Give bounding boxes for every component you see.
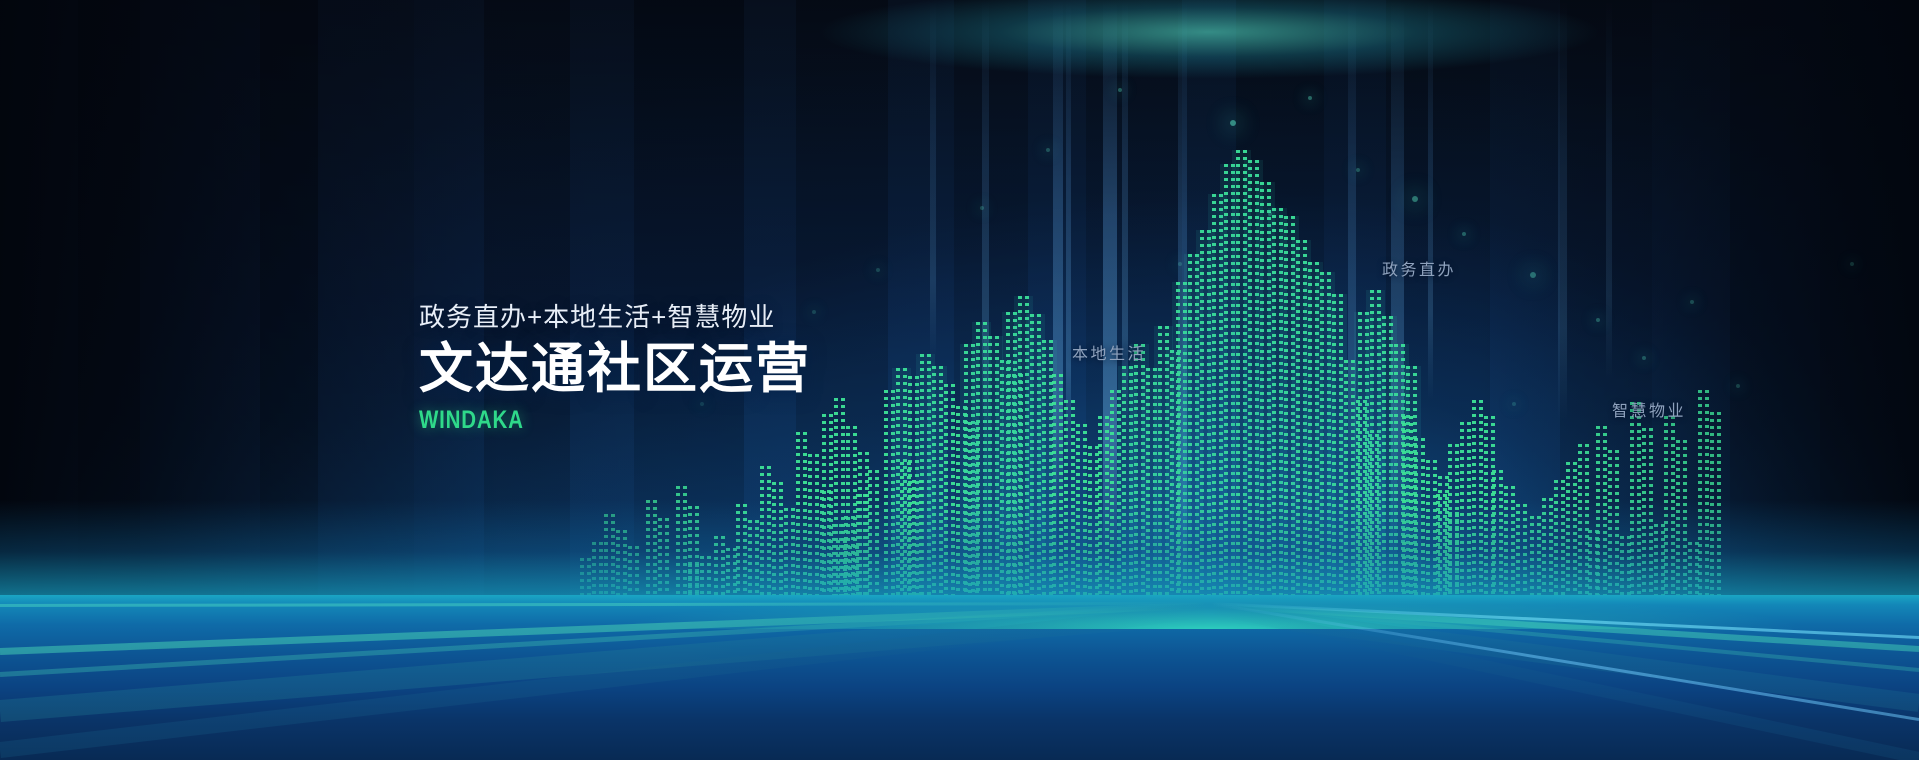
glow-particle xyxy=(1308,96,1312,100)
city-label-gov-service: 政务直办 xyxy=(1382,256,1456,280)
hero-banner: 本地生活 政务直办 智慧物业 政务直办+本地生活+智慧物业 文达通社区运营 WI… xyxy=(0,0,1919,760)
glow-particle xyxy=(1356,168,1360,172)
glow-particle xyxy=(980,206,984,210)
glow-particle xyxy=(1512,402,1516,406)
hero-title: 文达通社区运营 xyxy=(419,340,811,398)
glow-particle xyxy=(1530,272,1536,278)
glow-particle xyxy=(1118,88,1122,92)
glow-particle xyxy=(1850,262,1854,266)
road-lines xyxy=(0,595,1919,760)
glow-particle xyxy=(1596,318,1600,322)
glow-particle xyxy=(1642,356,1646,360)
glow-particle xyxy=(1736,384,1740,388)
glow-particle xyxy=(1046,148,1050,152)
brand-wordmark: WINDAKA xyxy=(419,406,740,435)
glow-particle xyxy=(1690,300,1694,304)
perspective-ground xyxy=(0,595,1919,760)
glow-particle xyxy=(1178,262,1182,266)
hero-text-block: 政务直办+本地生活+智慧物业 文达通社区运营 WINDAKA xyxy=(419,297,811,435)
city-label-local-life: 本地生活 xyxy=(1072,340,1146,364)
glow-particle xyxy=(812,310,816,314)
city-label-smart-property: 智慧物业 xyxy=(1612,397,1686,421)
glow-particle xyxy=(1412,196,1418,202)
hero-subtitle: 政务直办+本地生活+智慧物业 xyxy=(419,297,811,334)
glow-particle xyxy=(1268,212,1272,216)
glow-particle xyxy=(1230,120,1236,126)
glow-particle xyxy=(876,268,880,272)
glow-particle xyxy=(1462,232,1466,236)
perspective-line xyxy=(0,602,1210,607)
